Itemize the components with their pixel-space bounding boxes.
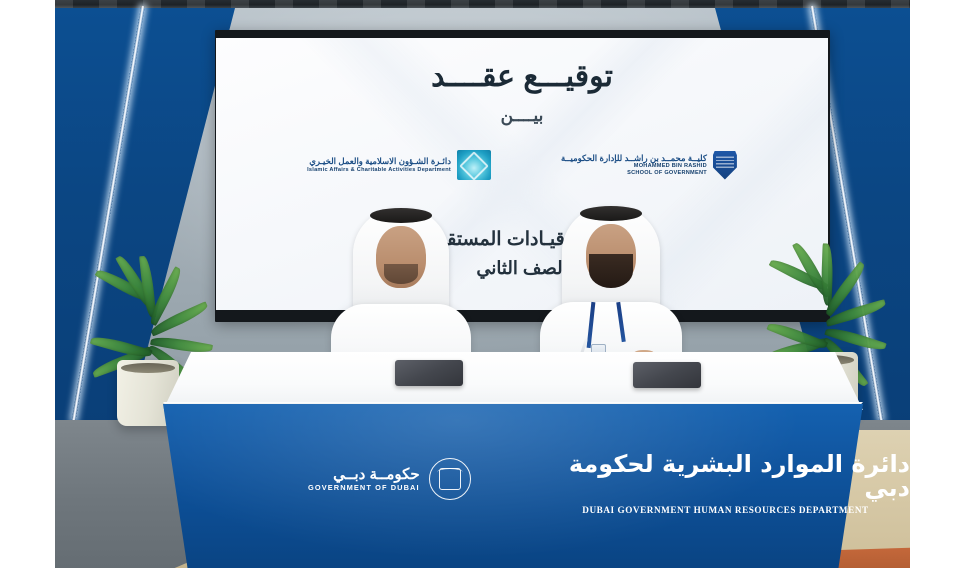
photo-frame: توقيـــع عقــــد بيــــن دائـرة الشـؤون …	[55, 0, 910, 568]
agal-cord	[370, 208, 432, 223]
beard	[384, 264, 418, 284]
slide-title: توقيـــع عقــــد	[431, 62, 613, 92]
person-left	[323, 196, 479, 376]
logo-mbrsg-english-1: MOHAMMED BIN RASHID	[634, 163, 707, 170]
dubai-falcon-emblem-icon	[429, 458, 471, 500]
dghr-department-logo: دائرة الموارد البشرية لحكومة دبي DUBAI G…	[541, 452, 910, 515]
government-of-dubai-text: حكومــة دبــي GOVERNMENT OF DUBAI	[308, 466, 420, 493]
ceiling-lights	[55, 0, 910, 8]
logo-islamic-affairs: دائـرة الشـؤون الاسلامية والعمل الخيـري …	[307, 150, 491, 180]
dghr-english: DUBAI GOVERNMENT HUMAN RESOURCES DEPARTM…	[582, 505, 868, 515]
teal-dome-emblem-icon	[457, 150, 491, 180]
blue-shield-crest-icon	[713, 151, 737, 180]
ceiling-soffit	[55, 0, 910, 8]
dghr-arabic: دائرة الموارد البشرية لحكومة دبي	[541, 452, 910, 500]
signing-desk-top	[163, 352, 863, 410]
government-of-dubai-arabic: حكومــة دبــي	[333, 466, 419, 484]
event-photo-scene: توقيـــع عقــــد بيــــن دائـرة الشـؤون …	[0, 0, 960, 568]
logo-islamic-affairs-text: دائـرة الشـؤون الاسلامية والعمل الخيـري …	[307, 156, 451, 174]
slide-content: توقيـــع عقــــد بيــــن دائـرة الشـؤون …	[216, 38, 828, 310]
logo-mbrsg: كليــة محمــد بن راشــد للإدارة الحكوميـ…	[561, 151, 737, 180]
logo-mbrsg-english-2: SCHOOL OF GOVERNMENT	[627, 170, 707, 177]
presentation-screen: توقيـــع عقــــد بيــــن دائـرة الشـؤون …	[216, 38, 828, 310]
tablet-left	[395, 360, 463, 386]
logo-mbrsg-text: كليــة محمــد بن راشــد للإدارة الحكوميـ…	[561, 153, 707, 178]
slide-subtitle: تمكين قيـادات المستقبل الصف الثاني	[216, 228, 828, 279]
agal-cord	[580, 206, 642, 221]
government-of-dubai-logo: حكومــة دبــي GOVERNMENT OF DUBAI	[308, 458, 471, 500]
slide-between-label: بيــــن	[501, 106, 544, 126]
slide-logo-row: دائـرة الشـؤون الاسلامية والعمل الخيـري …	[216, 150, 828, 180]
logo-mbrsg-arabic: كليــة محمــد بن راشــد للإدارة الحكوميـ…	[561, 153, 707, 164]
logo-islamic-affairs-arabic: دائـرة الشـؤون الاسلامية والعمل الخيـري	[309, 156, 451, 167]
person-right	[533, 192, 689, 376]
tablet-right	[633, 362, 701, 388]
beard	[589, 254, 633, 288]
government-of-dubai-english: GOVERNMENT OF DUBAI	[308, 484, 420, 493]
palm-plant-right	[790, 276, 866, 358]
logo-islamic-affairs-english: Islamic Affairs & Charitable Activities …	[307, 167, 451, 174]
palm-plant-left	[117, 288, 187, 368]
